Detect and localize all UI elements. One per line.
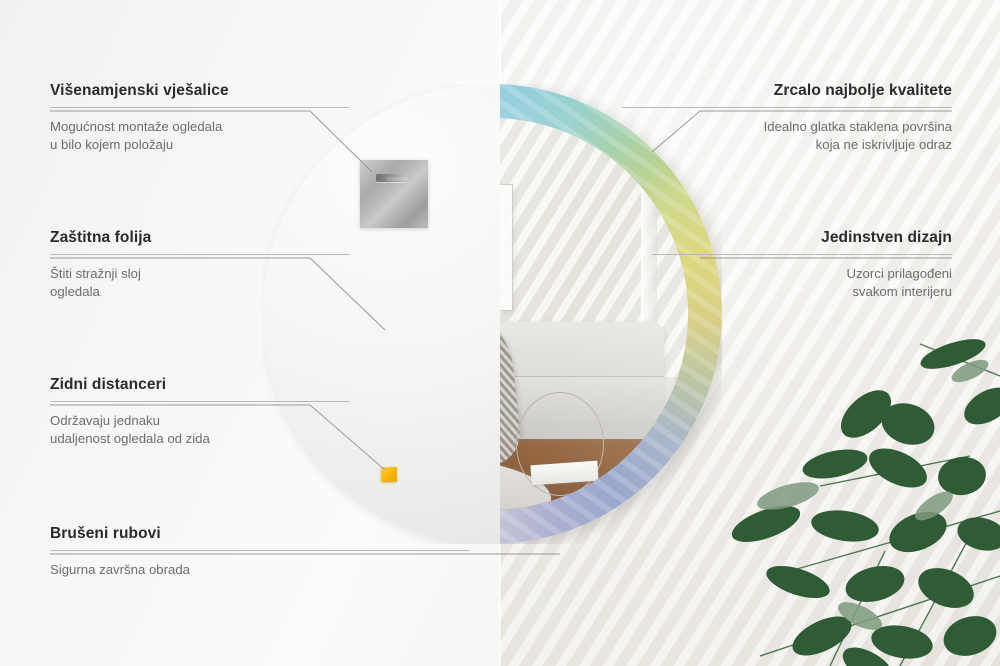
callout-design-desc: Uzorci prilagođeni svakom interijeru <box>652 265 952 300</box>
hanger-bracket-icon <box>360 160 428 228</box>
callout-hangers-desc-line2: u bilo kojem položaju <box>50 137 173 152</box>
callout-film-title: Zaštitna folija <box>50 229 350 247</box>
callout-edges-desc: Sigurna završna obrada <box>50 561 470 579</box>
callout-spacers-desc-line1: Održavaju jednaku <box>50 413 160 428</box>
callout-design-title: Jedinstven dizajn <box>652 229 952 247</box>
mirror-glass <box>500 118 688 510</box>
callout-design-rule <box>652 254 952 255</box>
callout-edges-title: Brušeni rubovi <box>50 525 470 543</box>
callout-design-desc-line1: Uzorci prilagođeni <box>846 266 952 281</box>
callout-hangers-rule <box>50 107 350 108</box>
callout-spacers-desc-line2: udaljenost ogledala od zida <box>50 431 210 446</box>
callout-design: Jedinstven dizajn Uzorci prilagođeni sva… <box>652 229 952 300</box>
line-art-face-icon <box>500 195 502 300</box>
sofa-backrest <box>500 322 664 378</box>
callout-quality-title: Zrcalo najbolje kvalitete <box>622 82 952 100</box>
callout-film: Zaštitna folija Štiti stražnji sloj ogle… <box>50 229 350 300</box>
callout-film-desc-line2: ogledala <box>50 284 100 299</box>
round-mirror <box>262 84 722 544</box>
callout-quality-desc: Idealno glatka staklena površina koja ne… <box>622 118 952 153</box>
wall-spacer-icon <box>381 467 397 482</box>
callout-spacers-rule <box>50 401 350 402</box>
callout-quality-rule <box>622 107 952 108</box>
callout-spacers-title: Zidni distanceri <box>50 376 350 394</box>
callout-hangers-title: Višenamjenski vješalice <box>50 82 350 100</box>
callout-edges: Brušeni rubovi Sigurna završna obrada <box>50 525 470 579</box>
callout-hangers-desc: Mogućnost montaže ogledala u bilo kojem … <box>50 118 350 153</box>
callout-spacers: Zidni distanceri Održavaju jednaku udalj… <box>50 376 350 447</box>
callout-film-rule <box>50 254 350 255</box>
callout-edges-rule <box>50 550 470 551</box>
callout-quality: Zrcalo najbolje kvalitete Idealno glatka… <box>622 82 952 153</box>
mirror-styled-half <box>500 84 722 544</box>
infographic-canvas: Višenamjenski vješalice Mogućnost montaž… <box>0 0 1000 666</box>
line-art-picture-frame <box>500 185 512 310</box>
hanger-keyhole-slot-secondary <box>386 177 408 181</box>
callout-film-desc: Štiti stražnji sloj ogledala <box>50 265 350 300</box>
callout-hangers-desc-line1: Mogućnost montaže ogledala <box>50 119 222 134</box>
mirror-styled-disc <box>500 84 722 544</box>
callout-film-desc-line1: Štiti stražnji sloj <box>50 266 141 281</box>
callout-quality-desc-line2: koja ne iskrivljuje odraz <box>816 137 952 152</box>
callout-hangers: Višenamjenski vješalice Mogućnost montaž… <box>50 82 350 153</box>
callout-spacers-desc: Održavaju jednaku udaljenost ogledala od… <box>50 412 350 447</box>
callout-quality-desc-line1: Idealno glatka staklena površina <box>764 119 952 134</box>
callout-design-desc-line2: svakom interijeru <box>852 284 952 299</box>
